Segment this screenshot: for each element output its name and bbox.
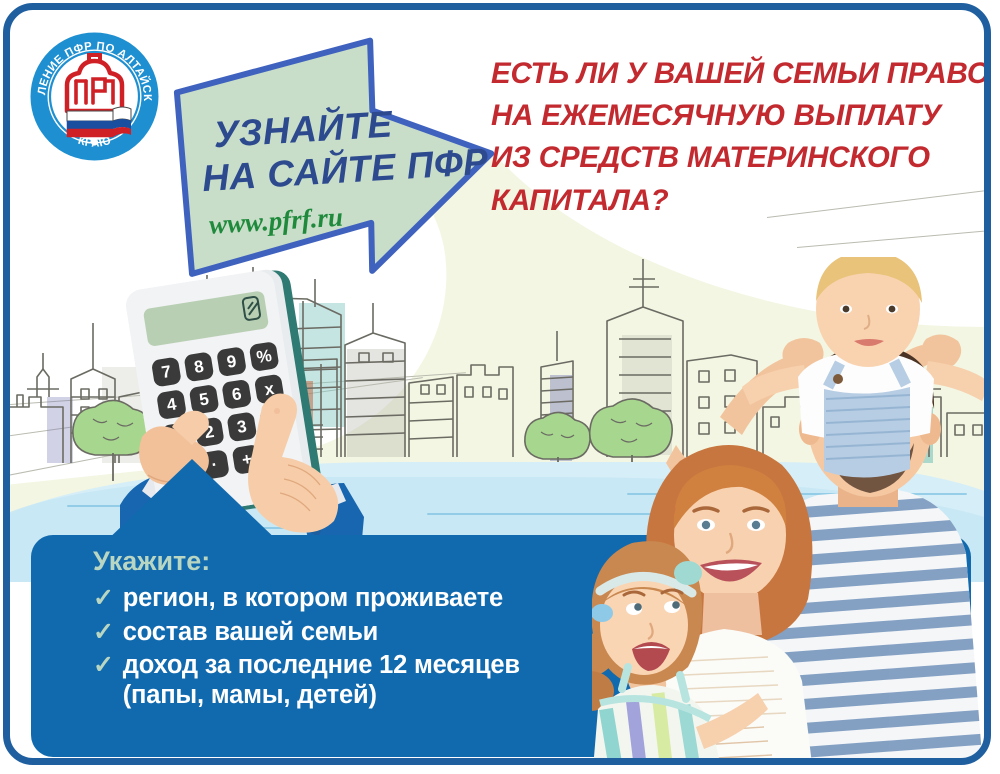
info-panel-content: Укажите: ✓ регион, в котором проживаете … bbox=[93, 547, 653, 715]
list-item: ✓ состав вашей семьи bbox=[93, 618, 653, 648]
arrow-callout[interactable]: УЗНАЙТЕ НА САЙТЕ ПФР www.pfrf.ru bbox=[162, 25, 508, 317]
list-item-text: доход за последние 12 месяцев bbox=[123, 651, 520, 681]
arrow-callout-url[interactable]: www.pfrf.ru bbox=[208, 192, 503, 241]
list-item-subtext: (папы, мамы, детей) bbox=[123, 681, 520, 711]
list-item-text: регион, в котором проживаете bbox=[123, 584, 503, 614]
poster-canvas: УЗНАЙТЕ НА САЙТЕ ПФР www.pfrf.ru ЕСТЬ ЛИ… bbox=[7, 7, 987, 761]
pfr-logo: ОТДЕЛЕНИЕ ПФР ПО АЛТАЙСКОМУ КРАЮ bbox=[27, 29, 162, 164]
headline-line-4: КАПИТАЛА? bbox=[491, 180, 987, 222]
requirements-list: ✓ регион, в котором проживаете ✓ состав … bbox=[93, 584, 653, 711]
check-icon: ✓ bbox=[93, 651, 114, 680]
svg-text:%: % bbox=[255, 346, 273, 367]
list-item: ✓ доход за последние 12 месяцев (папы, м… bbox=[93, 651, 653, 711]
headline-line-2: НА ЕЖЕМЕСЯЧНУЮ ВЫПЛАТУ bbox=[491, 95, 987, 137]
panel-pointer-tab bbox=[102, 459, 282, 545]
headline-line-3: ИЗ СРЕДСТВ МАТЕРИНСКОГО bbox=[491, 137, 987, 179]
list-item: ✓ регион, в котором проживаете bbox=[93, 584, 653, 614]
check-icon: ✓ bbox=[93, 618, 114, 647]
check-icon: ✓ bbox=[93, 584, 114, 613]
info-panel-title: Укажите: bbox=[93, 547, 653, 577]
page-title: ЕСТЬ ЛИ У ВАШЕЙ СЕМЬИ ПРАВО НА ЕЖЕМЕСЯЧН… bbox=[491, 53, 987, 222]
poster-root: УЗНАЙТЕ НА САЙТЕ ПФР www.pfrf.ru ЕСТЬ ЛИ… bbox=[0, 0, 1000, 774]
headline-line-1: ЕСТЬ ЛИ У ВАШЕЙ СЕМЬИ ПРАВО bbox=[491, 53, 987, 95]
list-item-text: состав вашей семьи bbox=[123, 618, 378, 648]
